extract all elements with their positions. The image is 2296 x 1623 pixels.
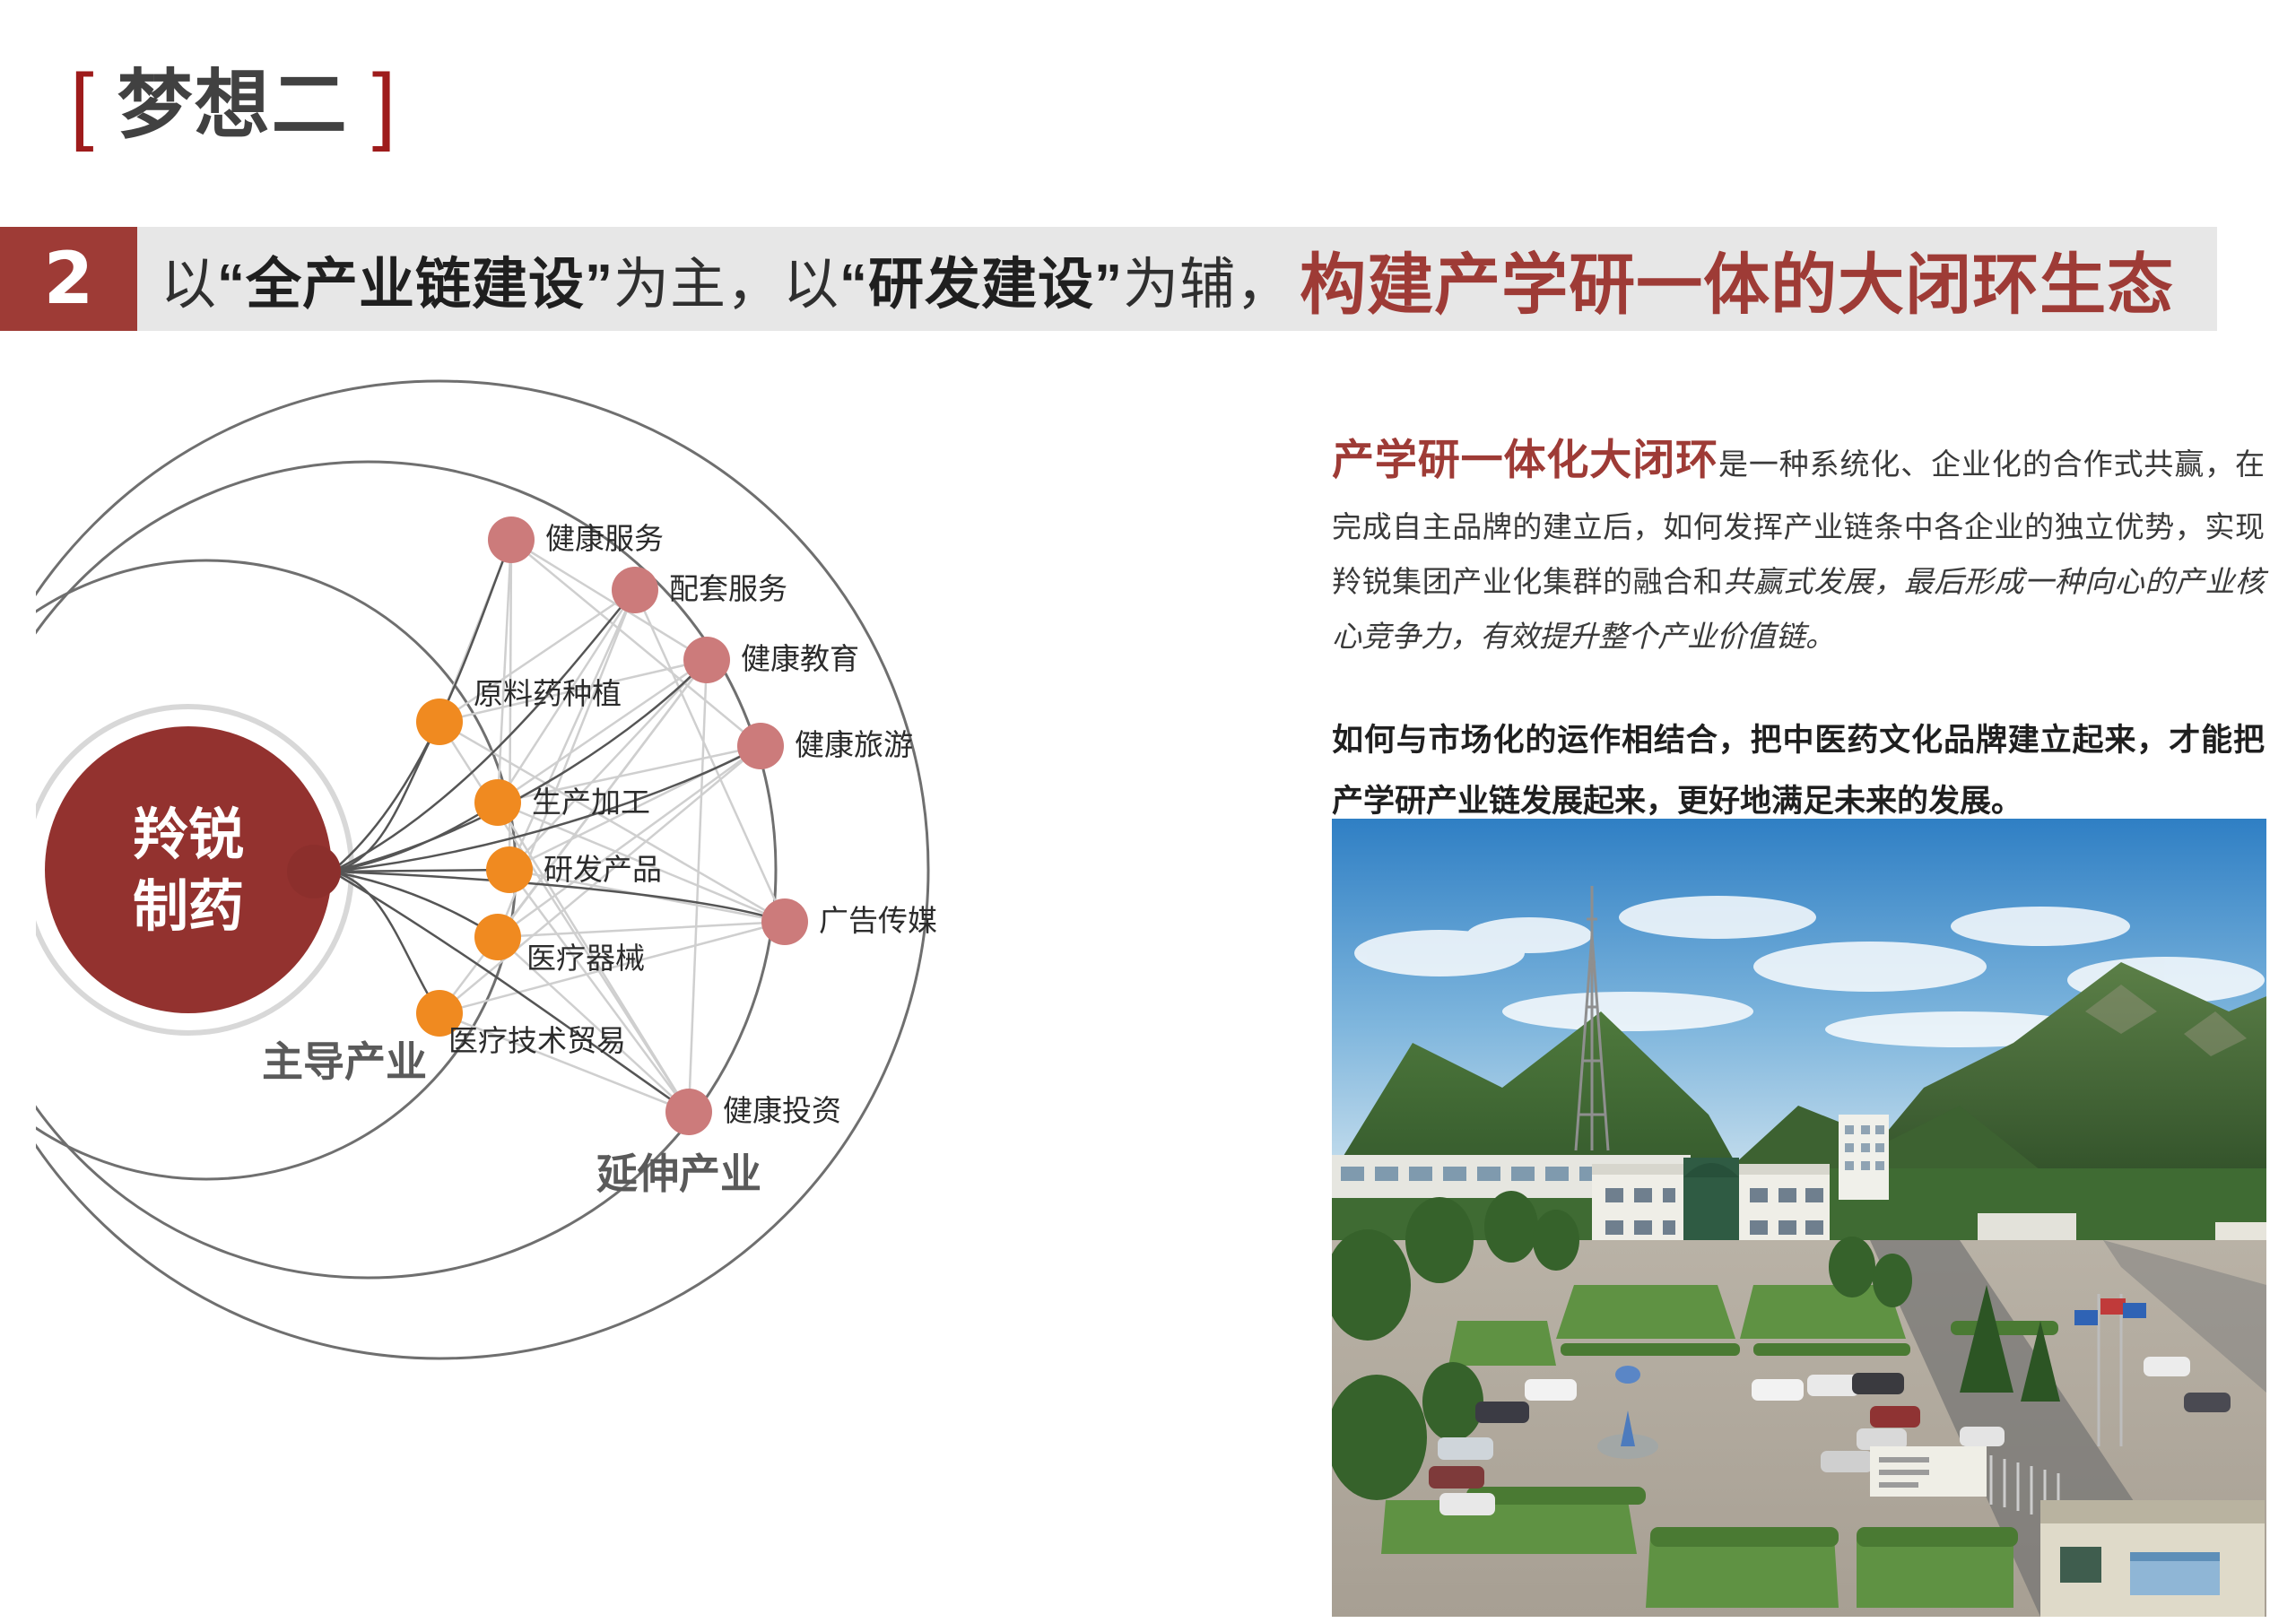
node-label-rd-products: 研发产品 [544,853,662,886]
node-label-health-investment: 健康投资 [723,1094,841,1127]
node-label-health-services: 健康服务 [545,522,664,555]
header-segment-5: 为辅， [1123,239,1292,319]
node-raw-material-planting[interactable] [416,699,463,745]
title-bracket-left: [ [70,62,94,148]
node-health-services[interactable] [488,516,535,563]
section-number-badge: 2 [0,227,137,331]
node-label-medical-tech-trade: 医疗技术贸易 [448,1024,626,1057]
section-header-text: 以 “全产业链建设” 为主，以 “研发建设” 为辅， 构建产学研一体的大闭环生态 [137,227,2217,331]
core-label-line1: 羚锐 [133,804,244,866]
section-header-bar: 2 以 “全产业链建设” 为主，以 “研发建设” 为辅， 构建产学研一体的大闭环… [0,227,2217,331]
node-medical-devices[interactable] [474,914,521,960]
header-segment-4: “研发建设” [839,239,1123,319]
section-number: 2 [44,243,94,315]
header-segment-2: “全产业链建设” [217,239,613,319]
title-text: 梦想二 [117,67,349,143]
lead-italic-1: 共赢式发展， [1723,565,1903,598]
sidebar-text-column: 产学研一体化大闭环是一种系统化、企业化的合作式共赢，在完成自主品牌的建立后，如何… [1332,421,2265,833]
lead-highlight: 产学研一体化大闭环 [1332,436,1718,483]
node-advertising-media[interactable] [761,898,808,945]
node-label-medical-devices: 医疗器械 [526,942,645,975]
title-bracket-right: ] [372,62,396,148]
photo-guard-house [2040,1500,2265,1617]
node-health-tourism[interactable] [737,723,784,769]
group-label-primary: 主导产业 [262,1038,427,1085]
node-label-support-services: 配套服务 [669,572,787,605]
core-connector-dot [287,845,341,898]
node-label-manufacturing: 生产加工 [532,785,650,819]
core-industry-nodes: 原料药种植 生产加工 研发产品 医疗器械 医疗技术贸易 [416,677,662,1057]
node-label-health-education: 健康教育 [741,642,859,675]
campus-photo [1332,819,2266,1617]
header-segment-1: 以 [161,239,217,319]
node-rd-products[interactable] [486,846,533,893]
header-segment-highlight: 构建产学研一体的大闭环生态 [1300,231,2174,327]
group-label-extended: 延伸产业 [596,1150,761,1197]
node-label-raw-material-planting: 原料药种植 [474,677,622,710]
emphasis-paragraph: 如何与市场化的运作相结合，把中医药文化品牌建立起来，才能把产学研产业链发展起来，… [1332,710,2265,833]
node-support-services[interactable] [612,567,658,613]
header-segment-3: 为主，以 [613,239,839,319]
node-health-education[interactable] [683,637,730,683]
node-label-health-tourism: 健康旅游 [795,728,913,761]
ecosystem-network-diagram: 羚锐 制药 原料药种植 生产加工 研发产品 医疗器械 医疗技术贸易 健康服务 配… [36,377,1309,1596]
lead-paragraph: 产学研一体化大闭环是一种系统化、企业化的合作式共赢，在完成自主品牌的建立后，如何… [1332,421,2265,664]
node-manufacturing[interactable] [474,779,521,826]
core-label-line2: 制药 [133,876,244,938]
page-title: [ 梦想二 ] [70,56,396,154]
node-label-advertising-media: 广告传媒 [819,904,937,937]
node-health-investment[interactable] [665,1089,712,1135]
